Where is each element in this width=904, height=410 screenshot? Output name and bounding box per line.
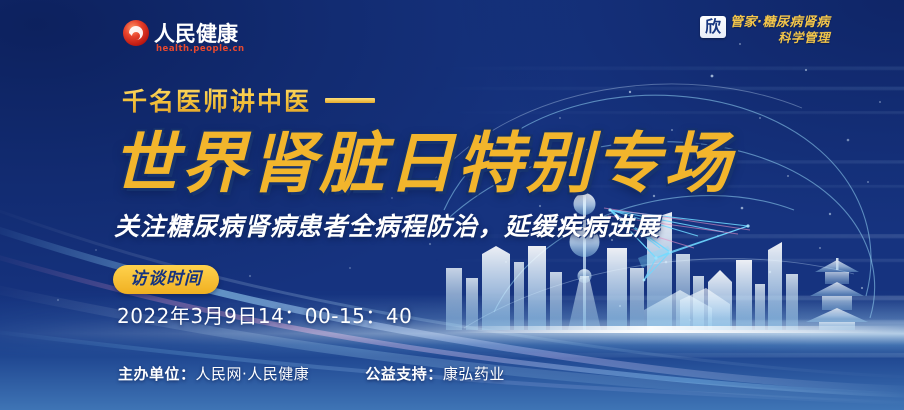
interview-time-label: 访谈时间 bbox=[113, 265, 219, 294]
kicker-dash bbox=[325, 98, 375, 103]
support-group: 公益支持： 康弘药业 bbox=[365, 363, 505, 384]
organizer-label: 主办单位： bbox=[118, 363, 196, 384]
support-value: 康弘药业 bbox=[443, 363, 505, 384]
organizer-value: 人民网·人民健康 bbox=[196, 363, 310, 384]
svg-text:health.people.cn: health.people.cn bbox=[156, 44, 245, 54]
badge-line-1: 管家·糖尿病肾病 bbox=[730, 16, 830, 31]
event-banner: 人民健康 health.people.cn 欣 管家·糖尿病肾病 科学管理 千名… bbox=[0, 0, 904, 410]
badge-mark: 欣 bbox=[700, 16, 726, 38]
support-label: 公益支持： bbox=[365, 363, 443, 384]
organizer-group: 主办单位： 人民网·人民健康 bbox=[118, 363, 309, 384]
interview-datetime: 2022年3月9日14：00-15：40 bbox=[117, 300, 412, 329]
sponsor-badge: 欣 管家·糖尿病肾病 科学管理 bbox=[700, 16, 876, 58]
svg-text:人民健康: 人民健康 bbox=[154, 22, 239, 46]
badge-text-block: 管家·糖尿病肾病 科学管理 bbox=[730, 16, 830, 45]
badge-line-2: 科学管理 bbox=[778, 31, 830, 45]
subtitle: 关注糖尿病肾病患者全病程防治，延缓疾病进展 bbox=[114, 207, 660, 243]
footer-credits: 主办单位： 人民网·人民健康 公益支持： 康弘药业 bbox=[118, 363, 505, 384]
people-health-logo[interactable]: 人民健康 health.people.cn bbox=[120, 18, 270, 54]
page-title: 世界肾脏日特别专场 bbox=[112, 110, 733, 206]
